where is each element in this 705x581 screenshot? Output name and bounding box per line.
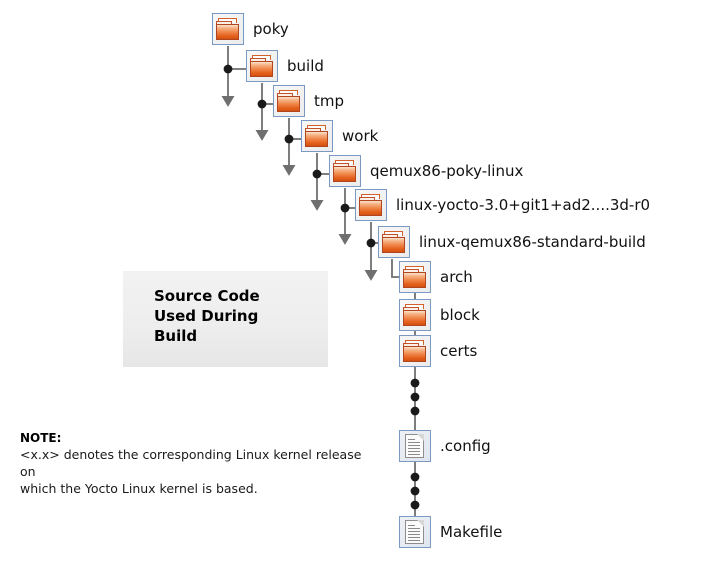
- folder-icon: [399, 261, 431, 293]
- diagram-canvas: poky build tmp work qemux86-poky-linux l…: [0, 0, 705, 581]
- note-body: <x.x> denotes the corresponding Linux ke…: [20, 446, 380, 497]
- file-icon: [399, 430, 431, 462]
- tree-node-label: qemux86-poky-linux: [370, 164, 523, 179]
- folder-icon: [399, 335, 431, 367]
- tree-node-certs[interactable]: certs: [399, 335, 477, 367]
- tree-node-build[interactable]: build: [246, 50, 324, 82]
- tree-node-label: tmp: [314, 94, 344, 109]
- folder-icon: [399, 299, 431, 331]
- folder-icon: [246, 50, 278, 82]
- tree-node-linux-qemux86-standard-build[interactable]: linux-qemux86-standard-build: [378, 226, 646, 258]
- callout-label: Source Code Used During Build: [154, 286, 260, 346]
- tree-node-label: block: [440, 308, 480, 323]
- tree-node-linux-yocto[interactable]: linux-yocto-3.0+git1+ad2....3d-r0: [355, 189, 650, 221]
- tree-node-block[interactable]: block: [399, 299, 480, 331]
- folder-icon: [378, 226, 410, 258]
- tree-node-label: work: [342, 129, 378, 144]
- note-block: NOTE: <x.x> denotes the corresponding Li…: [20, 430, 380, 497]
- tree-node-poky[interactable]: poky: [212, 13, 289, 45]
- tree-node-qemux86-poky-linux[interactable]: qemux86-poky-linux: [329, 155, 523, 187]
- tree-node-label: certs: [440, 344, 477, 359]
- tree-node-label: .config: [440, 439, 491, 454]
- tree-node-label: linux-qemux86-standard-build: [419, 235, 646, 250]
- tree-node-makefile[interactable]: Makefile: [399, 516, 502, 548]
- tree-node-label: linux-yocto-3.0+git1+ad2....3d-r0: [396, 198, 650, 213]
- tree-node-label: arch: [440, 270, 473, 285]
- folder-icon: [355, 189, 387, 221]
- file-icon: [399, 516, 431, 548]
- source-code-callout: Source Code Used During Build: [123, 271, 328, 367]
- tree-node-label: Makefile: [440, 525, 502, 540]
- folder-icon: [329, 155, 361, 187]
- tree-node-arch[interactable]: arch: [399, 261, 473, 293]
- folder-icon: [273, 85, 305, 117]
- tree-node-label: poky: [253, 22, 289, 37]
- tree-node-tmp[interactable]: tmp: [273, 85, 344, 117]
- tree-node-work[interactable]: work: [301, 120, 378, 152]
- folder-icon: [212, 13, 244, 45]
- tree-node-label: build: [287, 59, 324, 74]
- folder-icon: [301, 120, 333, 152]
- note-title: NOTE:: [20, 430, 380, 446]
- tree-node-config[interactable]: .config: [399, 430, 491, 462]
